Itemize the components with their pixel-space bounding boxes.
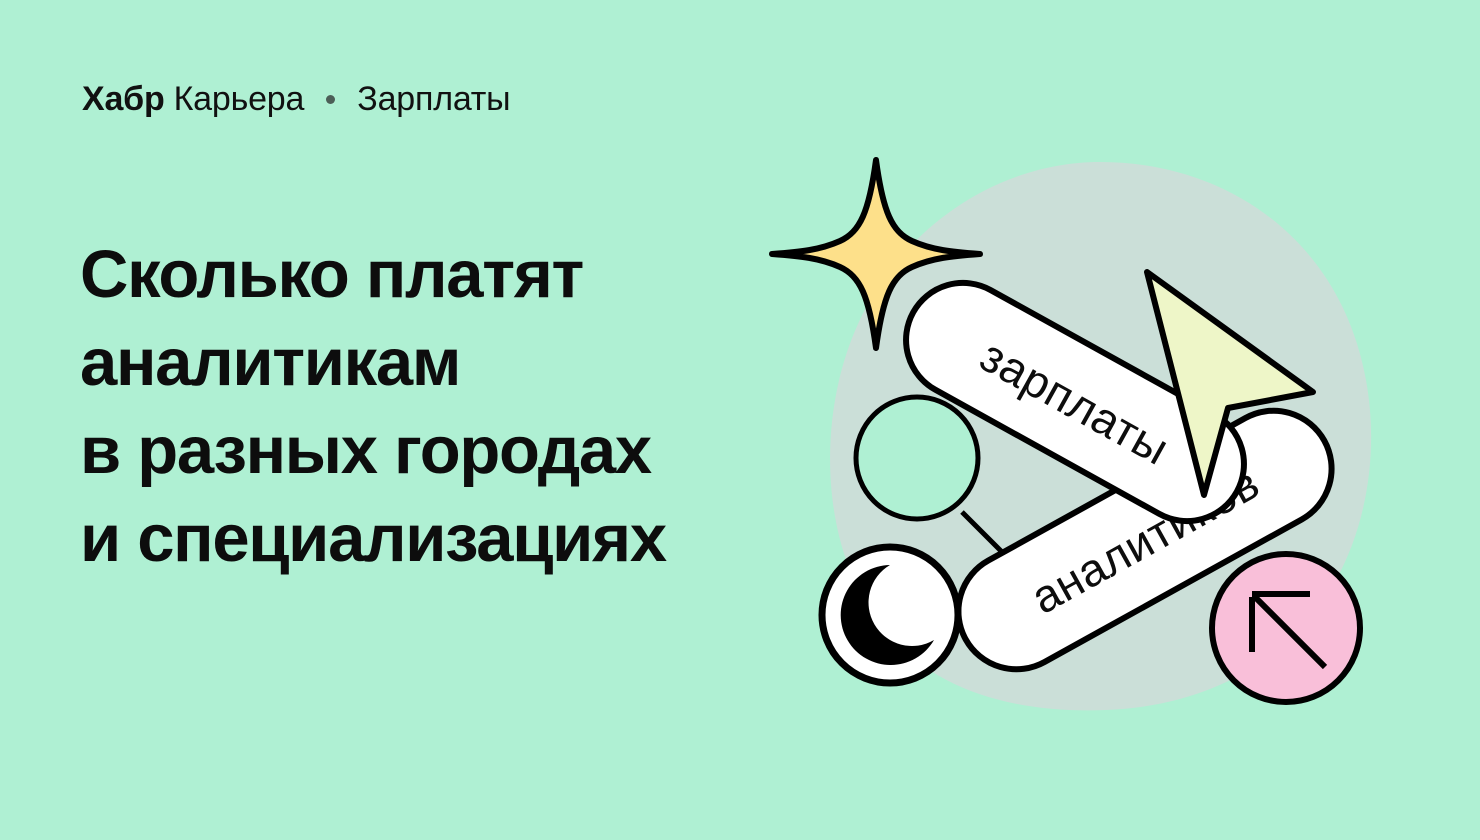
page-title-line-4: и специализациях xyxy=(80,495,800,583)
brand-name-secondary[interactable]: Карьера xyxy=(174,82,305,116)
hero-illustration: аналитиков зарплаты xyxy=(800,140,1400,740)
breadcrumb: Хабр Карьера Зарплаты xyxy=(82,82,510,116)
page-title-line-2: аналитикам xyxy=(80,319,800,407)
bullet-dot-icon xyxy=(326,95,335,104)
brand-name-primary[interactable]: Хабр xyxy=(82,82,165,116)
page-title-line-1: Сколько платят xyxy=(80,231,800,319)
eye-icon xyxy=(822,547,958,683)
breadcrumb-section-salaries[interactable]: Зарплаты xyxy=(357,82,510,116)
arrow-up-left-badge xyxy=(1212,554,1360,702)
cover-banner: Хабр Карьера Зарплаты Сколько платят ана… xyxy=(0,0,1480,840)
page-title-line-3: в разных городах xyxy=(80,407,800,495)
page-title: Сколько платят аналитикам в разных город… xyxy=(80,231,800,583)
